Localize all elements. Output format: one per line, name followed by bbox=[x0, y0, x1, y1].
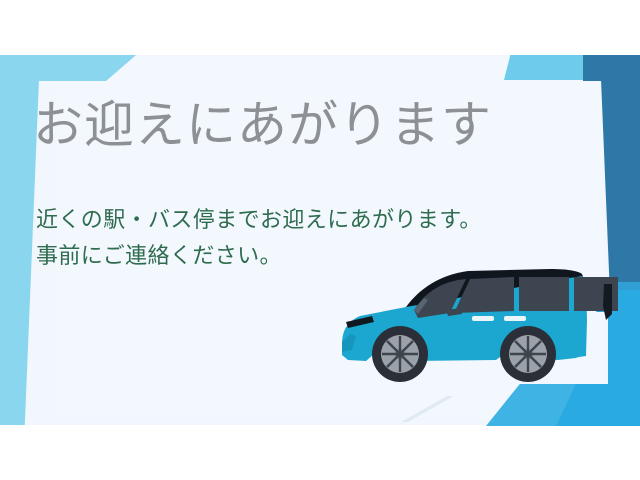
car-rear-wheel bbox=[500, 326, 556, 382]
page-title: お迎えにあがります bbox=[33, 97, 492, 153]
car-door-handle-rear bbox=[504, 316, 526, 321]
car-middle-window bbox=[519, 277, 569, 311]
banner-canvas: お迎えにあがります 近くの駅・バス停までお迎えにあがります。 事前にご連絡くださ… bbox=[0, 0, 640, 480]
right-accent-band-dark-top bbox=[583, 55, 640, 81]
car-door-handle-front bbox=[472, 316, 494, 321]
car-front-wheel bbox=[372, 326, 428, 382]
car-rear-trim bbox=[603, 284, 612, 320]
minivan-illustration bbox=[328, 258, 624, 390]
body-line-1: 近くの駅・バス停までお迎えにあがります。 bbox=[36, 203, 482, 239]
